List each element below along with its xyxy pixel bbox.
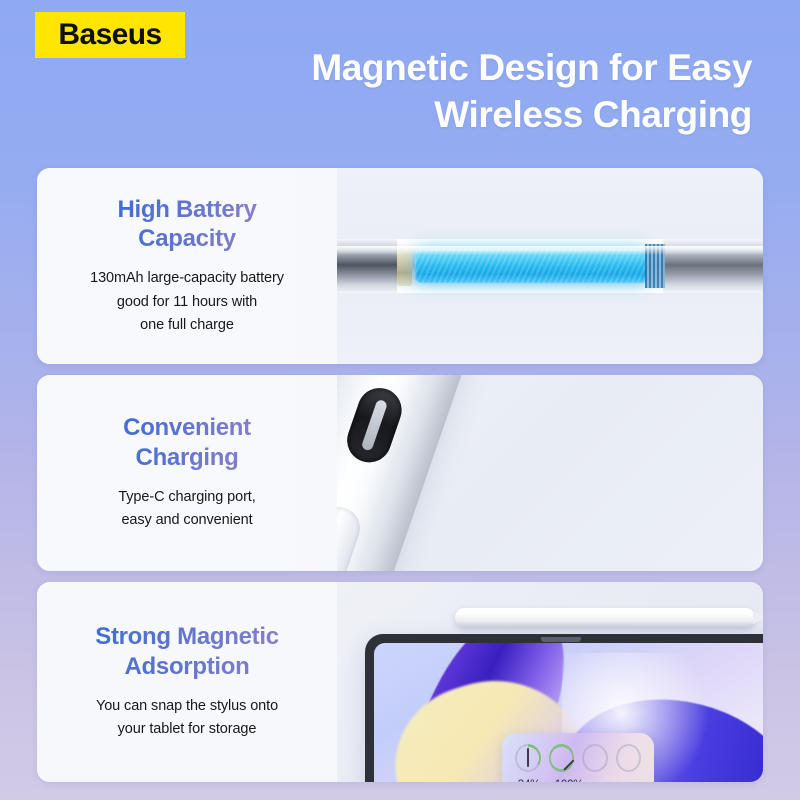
- battery-label-stylus: 100%: [551, 779, 587, 782]
- battery-status-widget[interactable]: 34% 100%: [502, 733, 654, 782]
- battery-ring-track: [582, 744, 608, 772]
- feature-card-heading: Strong Magnetic Adsorption: [95, 622, 279, 681]
- feature-card-heading-line-1: Convenient: [123, 414, 251, 441]
- battery-label-tablet: 34%: [515, 779, 543, 782]
- feature-card-body-line-2: easy and convenient: [121, 512, 252, 528]
- feature-card-text: High Battery Capacity 130mAh large-capac…: [37, 168, 337, 364]
- battery-label-group: 34% 100%: [515, 779, 641, 782]
- baseus-logo: Baseus: [35, 12, 185, 58]
- feature-card-body: Type-C charging port, easy and convenien…: [118, 486, 255, 533]
- battery-ring-group: [515, 744, 641, 772]
- feature-card-body-line-2: your tablet for storage: [118, 721, 257, 737]
- feature-card-body-line-1: 130mAh large-capacity battery: [90, 270, 284, 286]
- page-headline: Magnetic Design for Easy Wireless Chargi…: [212, 44, 752, 139]
- stylus-side-button: [337, 502, 366, 571]
- feature-card-text: Convenient Charging Type-C charging port…: [37, 375, 337, 571]
- feature-card-heading-line-1: Strong Magnetic: [95, 623, 279, 650]
- feature-card-text: Strong Magnetic Adsorption You can snap …: [37, 582, 337, 782]
- battery-ring-empty-2: [616, 744, 642, 772]
- feature-card-body-line-1: Type-C charging port,: [118, 489, 255, 505]
- tablet-screen: 34% 100%: [374, 643, 763, 782]
- battery-ring-fill: [549, 744, 575, 772]
- baseus-logo-text: Baseus: [58, 20, 161, 50]
- stylus-body: Baseus: [337, 375, 495, 571]
- tablet-device: 34% 100%: [365, 634, 763, 782]
- feature-card-heading-line-2: Capacity: [138, 225, 236, 252]
- battery-ring-stylus: [549, 744, 575, 772]
- feature-card-body-line-1: You can snap the stylus onto: [96, 698, 278, 714]
- headline-line-2: Wireless Charging: [212, 91, 752, 138]
- feature-card-body: 130mAh large-capacity battery good for 1…: [90, 267, 284, 337]
- feature-card-heading: High Battery Capacity: [117, 195, 256, 254]
- battery-ring-empty-1: [582, 744, 608, 772]
- feature-card-convenient-charging: Convenient Charging Type-C charging port…: [37, 375, 763, 571]
- feature-card-heading-line-1: High Battery: [117, 196, 256, 223]
- feature-card-body-line-3: one full charge: [140, 317, 234, 333]
- battery-ring-tablet: [515, 744, 541, 772]
- stylus-gloss-highlight: [337, 246, 763, 255]
- feature-card-strong-magnetic-adsorption: Strong Magnetic Adsorption You can snap …: [37, 582, 763, 782]
- stylus-xray-body: [337, 239, 763, 293]
- feature-card-body: You can snap the stylus onto your tablet…: [96, 695, 278, 742]
- transparent-stylus-battery-image: [337, 168, 763, 364]
- feature-card-high-battery-capacity: High Battery Capacity 130mAh large-capac…: [37, 168, 763, 364]
- feature-card-heading: Convenient Charging: [123, 413, 251, 472]
- tablet-with-stylus-image: 34% 100%: [337, 582, 763, 782]
- feature-card-body-line-2: good for 11 hours with: [117, 294, 257, 310]
- usb-c-port-closeup-image: Baseus: [337, 375, 763, 571]
- feature-card-heading-line-2: Adsorption: [125, 653, 250, 680]
- battery-ring-track: [616, 744, 642, 772]
- magnetic-stylus: [455, 608, 755, 627]
- tablet-icon: [527, 749, 529, 767]
- usb-c-port: [341, 382, 407, 468]
- tablet-magnetic-connector: [541, 637, 581, 642]
- headline-line-1: Magnetic Design for Easy: [212, 44, 752, 91]
- feature-card-heading-line-2: Charging: [136, 444, 239, 471]
